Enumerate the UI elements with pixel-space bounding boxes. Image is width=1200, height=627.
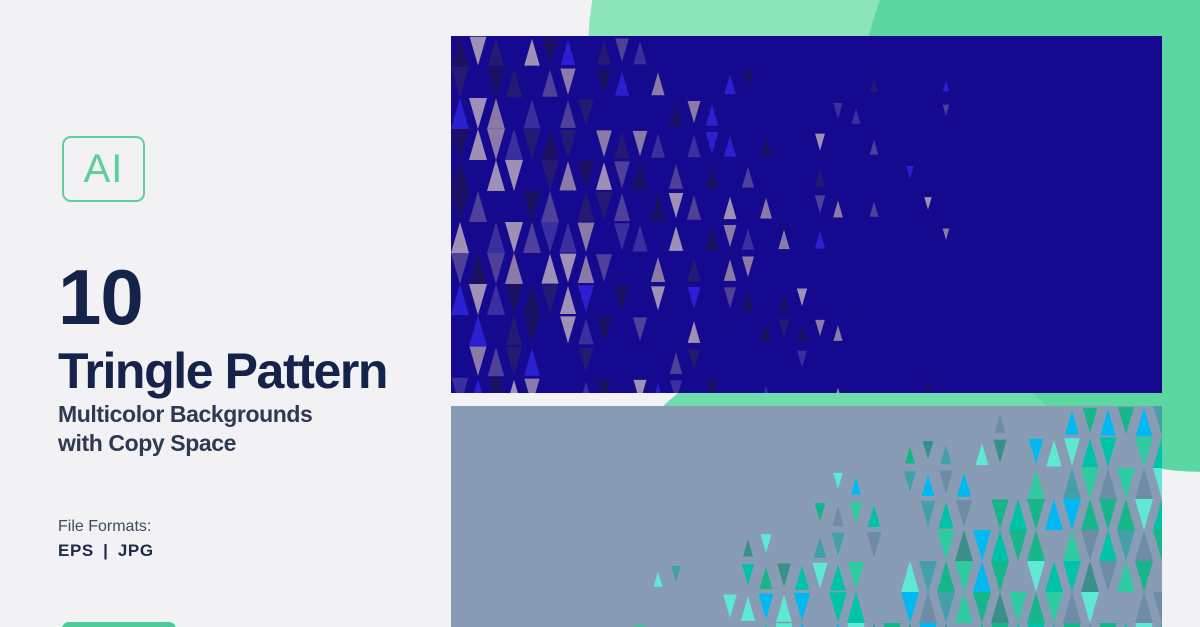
item-count: 10 [58, 266, 143, 330]
page-title: Tringle Pattern [58, 346, 387, 396]
file-format-separator: | [99, 541, 112, 560]
file-format-jpg: JPG [118, 541, 154, 560]
preview-panel-teal-gray [451, 406, 1162, 627]
cta-pill-button[interactable] [62, 622, 176, 627]
file-formats-value: EPS | JPG [58, 541, 154, 561]
page-subtitle-line-1: Multicolor Backgrounds [58, 400, 312, 429]
product-preview-canvas: AI 10 Tringle Pattern Multicolor Backgro… [0, 0, 1200, 627]
page-subtitle-line-2: with Copy Space [58, 429, 312, 458]
adobe-illustrator-badge-icon: AI [62, 136, 145, 202]
page-subtitle: Multicolor Backgrounds with Copy Space [58, 400, 312, 458]
info-column: AI 10 Tringle Pattern Multicolor Backgro… [0, 0, 452, 627]
file-formats-label: File Formats: [58, 518, 151, 536]
file-format-eps: EPS [58, 541, 94, 560]
preview-panel-dark-blue [451, 36, 1162, 393]
adobe-illustrator-badge-label: AI [84, 149, 124, 189]
